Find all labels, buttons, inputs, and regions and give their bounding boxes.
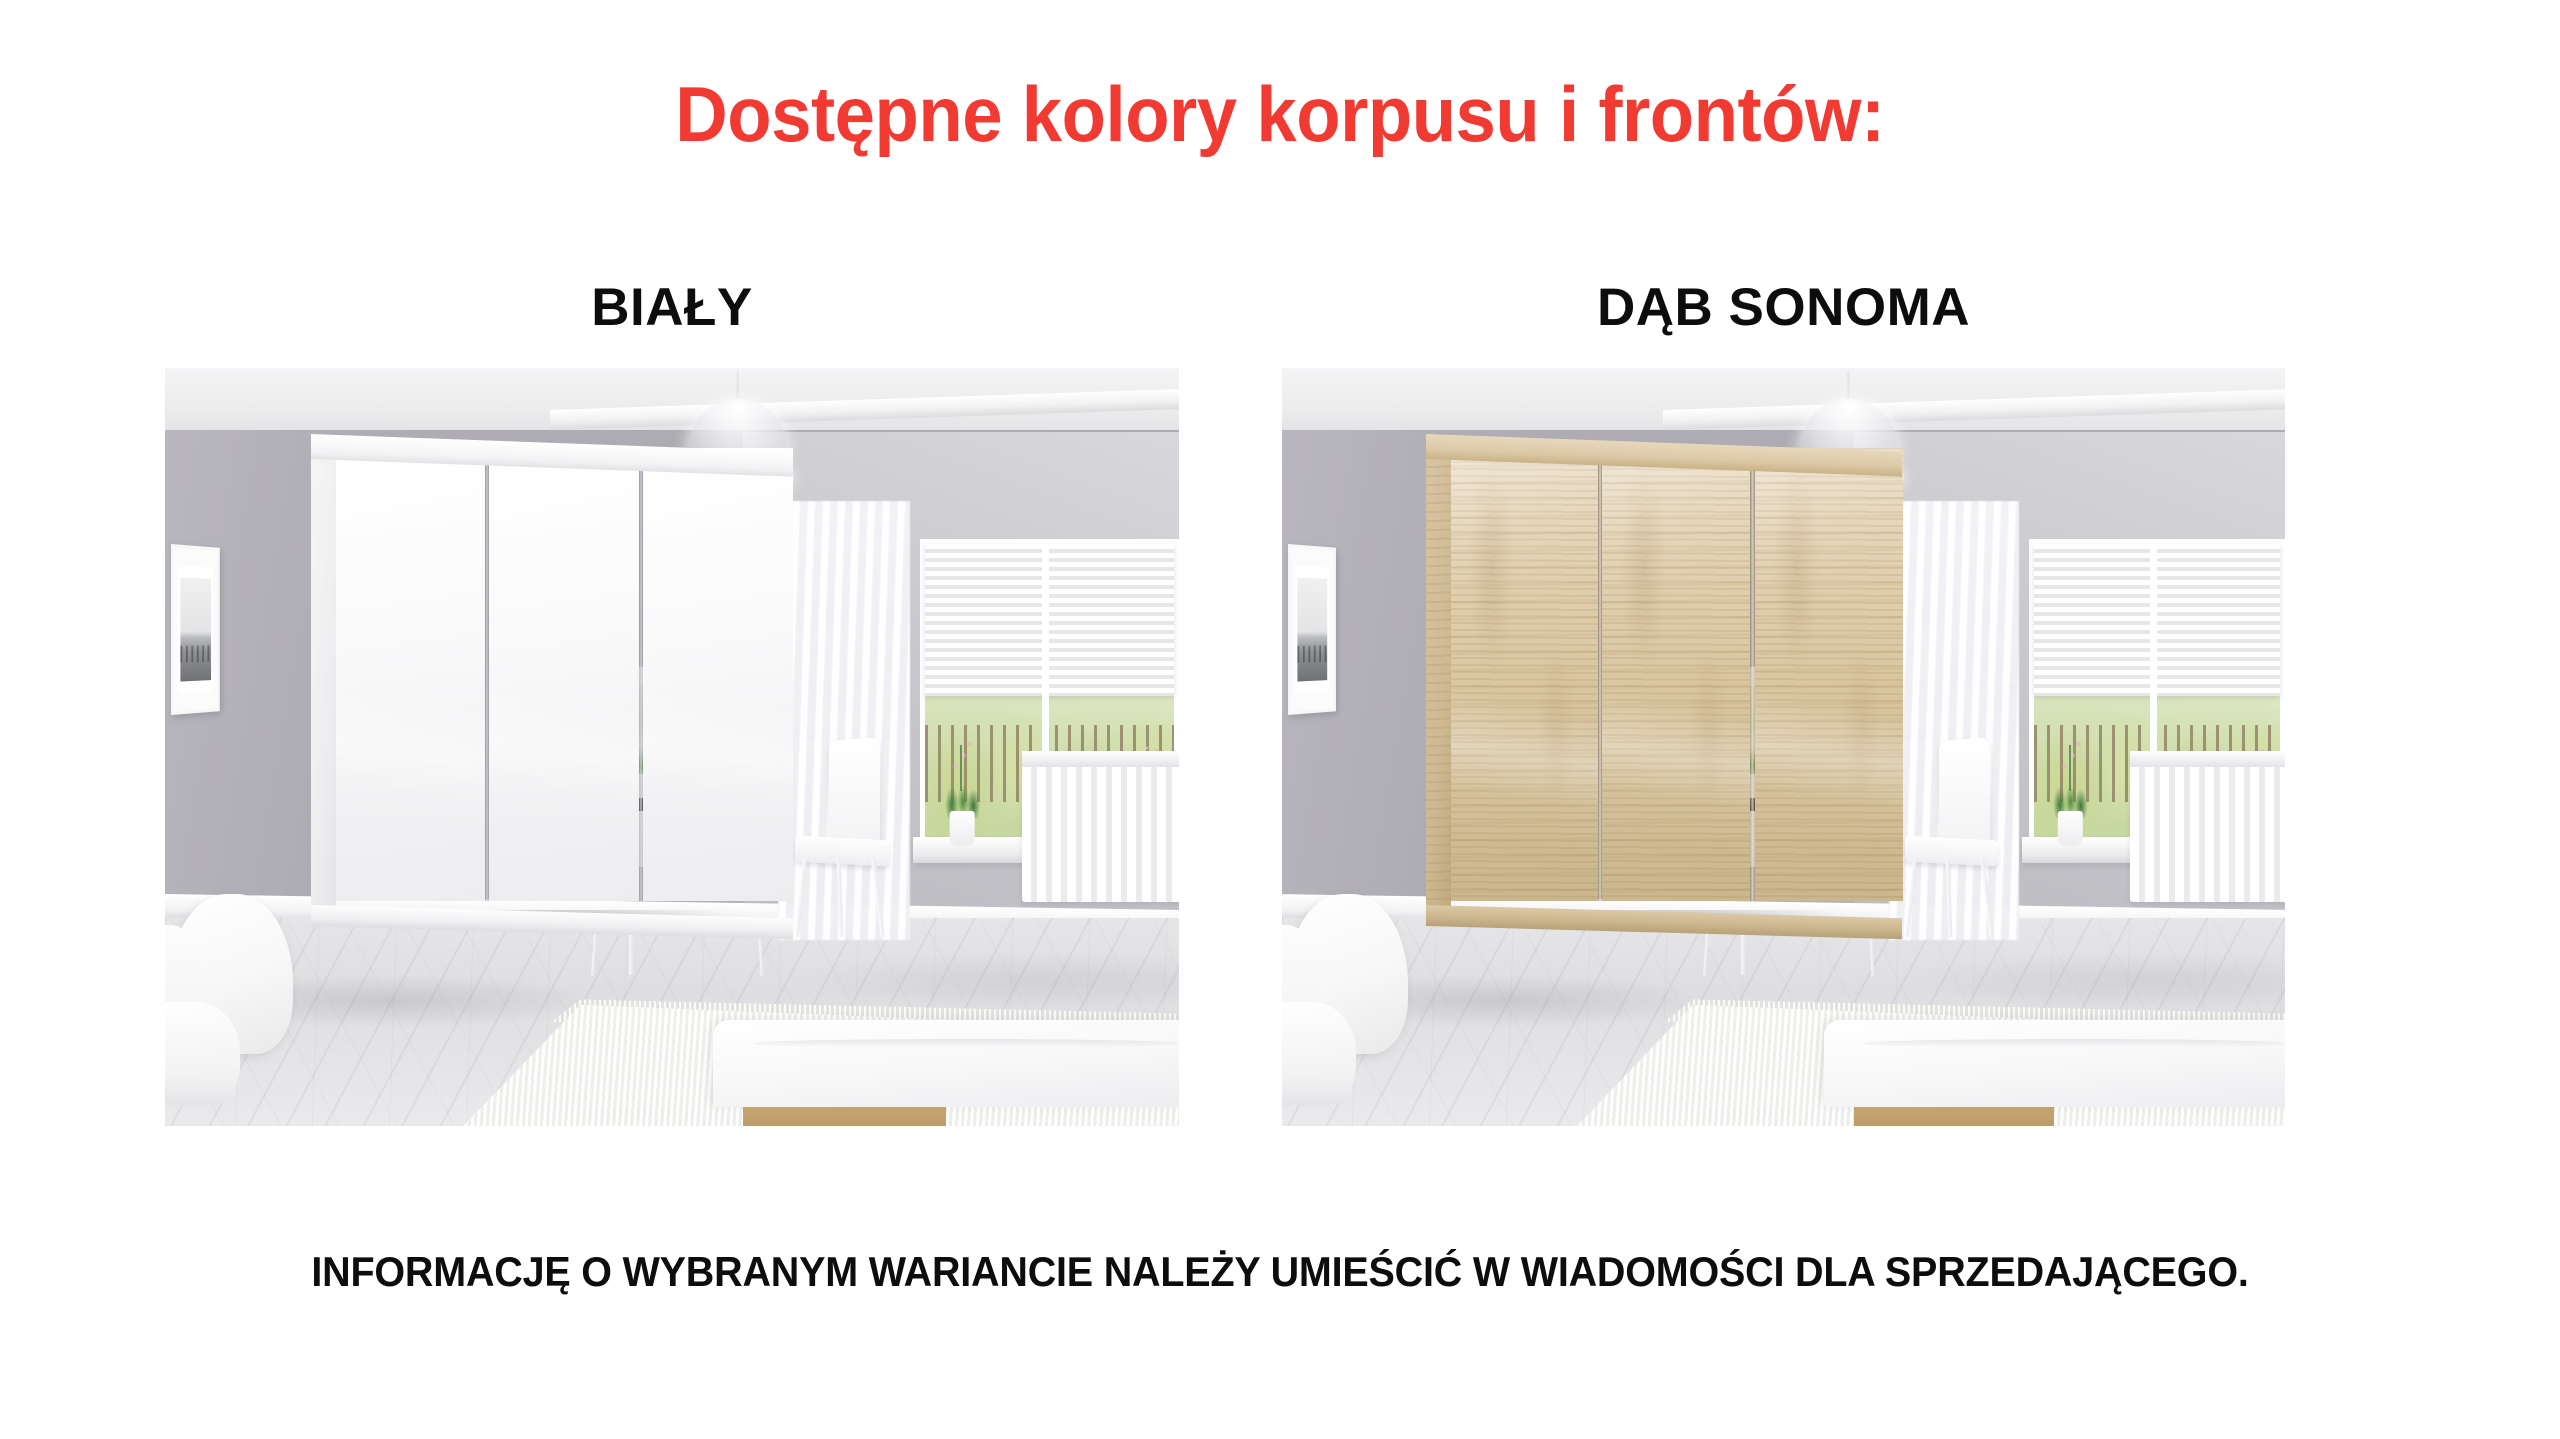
page-title: Dostępne kolory korpusu i frontów:	[90, 72, 2471, 158]
wardrobe-side-panel	[311, 439, 336, 913]
framed-art	[1288, 544, 1336, 715]
gloss-reflection	[1450, 448, 1598, 900]
gloss-reflection	[643, 448, 793, 900]
chair-leg	[871, 858, 884, 937]
wardrobe-side-panel	[1426, 439, 1451, 913]
bed-linen-fold	[753, 1039, 1179, 1048]
orchid-blooms	[2058, 734, 2086, 775]
window-blinds	[2034, 544, 2280, 696]
framed-art	[171, 544, 220, 715]
wardrobe-oak-sonoma	[1426, 434, 1902, 915]
chair-leg	[1946, 858, 1953, 937]
wardrobe-door-2	[489, 448, 639, 900]
art-photo	[1297, 577, 1327, 681]
wardrobe-doors	[335, 448, 793, 900]
window-blinds	[925, 544, 1174, 696]
bedroom-scene-oak-sonoma	[1282, 368, 2285, 1126]
wardrobe-doors	[1450, 448, 1903, 900]
wardrobe-door-3	[643, 448, 793, 900]
wardrobe-door-3	[1755, 448, 1903, 900]
chair-leg	[836, 858, 843, 937]
orchid-plant	[941, 732, 984, 846]
radiator	[1022, 751, 1179, 903]
radiator	[2130, 751, 2285, 903]
wardrobe-door-2	[1602, 448, 1750, 900]
bed-linen-fold	[1864, 1039, 2285, 1048]
bed-mattress	[713, 1020, 1179, 1107]
variant-label-oak-sonoma: DĄB SONOMA	[1282, 277, 2285, 338]
art-photo	[180, 577, 210, 681]
wardrobe-door-1	[335, 448, 485, 900]
art-mat	[1295, 565, 1330, 693]
bed	[713, 1020, 1179, 1126]
gloss-reflection	[489, 448, 639, 900]
variant-photo-white[interactable]	[165, 368, 1179, 1126]
gloss-reflection	[335, 448, 485, 900]
variant-label-white: BIAŁY	[165, 277, 1179, 338]
gloss-reflection	[1602, 448, 1750, 900]
variant-photo-oak-sonoma[interactable]	[1282, 368, 2285, 1126]
armchair-base	[1282, 1074, 1352, 1105]
chair-leg	[1980, 858, 1993, 937]
order-notice: INFORMACJĘ O WYBRANYM WARIANCIE NALEŻY U…	[77, 1248, 2483, 1296]
orchid-pot	[2058, 811, 2082, 845]
orchid-pot	[950, 811, 975, 845]
white-chair	[1899, 739, 2009, 936]
white-chair	[789, 739, 901, 936]
bed-mattress	[1824, 1020, 2285, 1107]
orchid-plant	[2049, 732, 2091, 846]
wardrobe-white	[311, 434, 793, 915]
chair-backrest	[829, 738, 880, 852]
bedroom-scene-white	[165, 368, 1179, 1126]
bed	[1824, 1020, 2285, 1126]
wardrobe-door-1	[1450, 448, 1598, 900]
armchair-base	[165, 1074, 236, 1105]
gloss-reflection	[1755, 448, 1903, 900]
art-mat	[178, 565, 213, 693]
orchid-blooms	[949, 734, 977, 775]
chair-backrest	[1939, 738, 1990, 852]
